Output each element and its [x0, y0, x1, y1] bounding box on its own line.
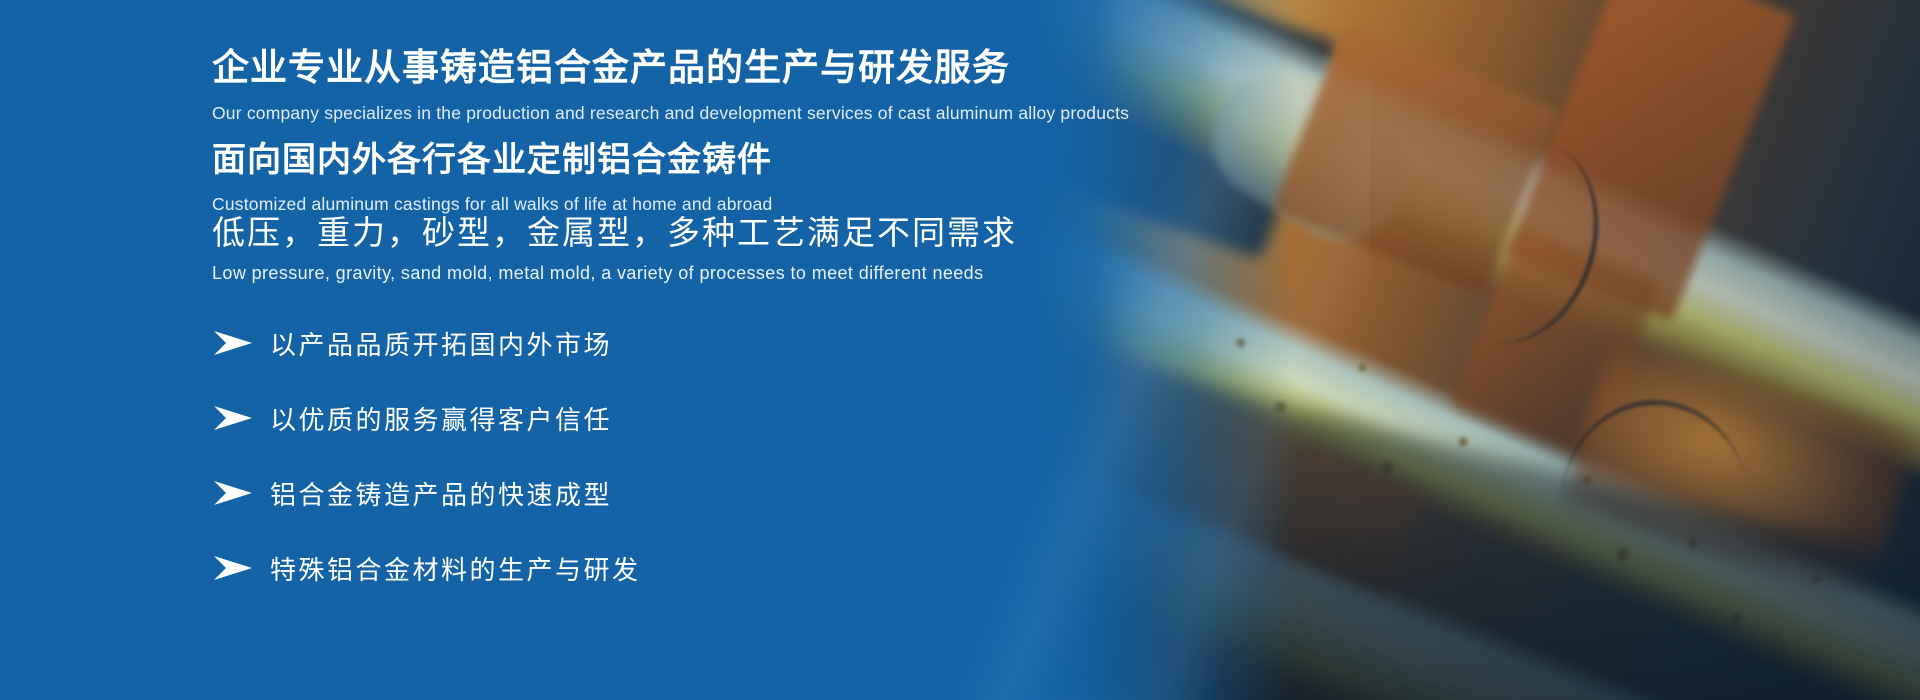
arrow-right-icon [212, 330, 254, 356]
feature-list: 以产品品质开拓国内外市场 以优质的服务赢得客户信任 铝合金铸造产品的快速成型 特… [212, 315, 912, 615]
cable-loop-2 [1554, 394, 1756, 592]
headline-primary-cn: 企业专业从事铸造铝合金产品的生产与研发服务 [212, 48, 1129, 89]
list-item-label: 以优质的服务赢得客户信任 [270, 400, 612, 437]
list-item: 以优质的服务赢得客户信任 [212, 390, 912, 446]
headline-secondary-en: Customized aluminum castings for all wal… [212, 194, 772, 215]
list-item: 特殊铝合金材料的生产与研发 [212, 540, 912, 596]
headline-tertiary-en: Low pressure, gravity, sand mold, metal … [212, 263, 1017, 284]
hero-banner: 企业专业从事铸造铝合金产品的生产与研发服务 Our company specia… [0, 0, 1920, 700]
machinery-block-c [1450, 229, 1660, 461]
headline-block-1: 企业专业从事铸造铝合金产品的生产与研发服务 Our company specia… [212, 48, 1129, 124]
arrow-right-icon [212, 555, 254, 581]
headline-primary-en: Our company specializes in the productio… [212, 103, 1129, 124]
headline-block-3: 低压，重力，砂型，金属型，多种工艺满足不同需求 Low pressure, gr… [212, 215, 1017, 284]
arrow-right-icon [212, 405, 254, 431]
headline-block-2: 面向国内外各行各业定制铝合金铸件 Customized aluminum cas… [212, 142, 772, 215]
furnace-glow [1560, 335, 1920, 605]
list-item-label: 铝合金铸造产品的快速成型 [270, 475, 612, 512]
list-item-label: 特殊铝合金材料的生产与研发 [270, 550, 641, 587]
machinery-block-a [1505, 0, 1796, 322]
list-item: 铝合金铸造产品的快速成型 [212, 465, 912, 521]
list-item-label: 以产品品质开拓国内外市场 [270, 325, 612, 362]
headline-tertiary-cn: 低压，重力，砂型，金属型，多种工艺满足不同需求 [212, 215, 1017, 251]
cable-loop-1 [1431, 124, 1624, 365]
banner-content: 企业专业从事铸造铝合金产品的生产与研发服务 Our company specia… [212, 0, 1412, 700]
list-item: 以产品品质开拓国内外市场 [212, 315, 912, 371]
headline-secondary-cn: 面向国内外各行各业定制铝合金铸件 [212, 142, 772, 179]
arrow-right-icon [212, 480, 254, 506]
